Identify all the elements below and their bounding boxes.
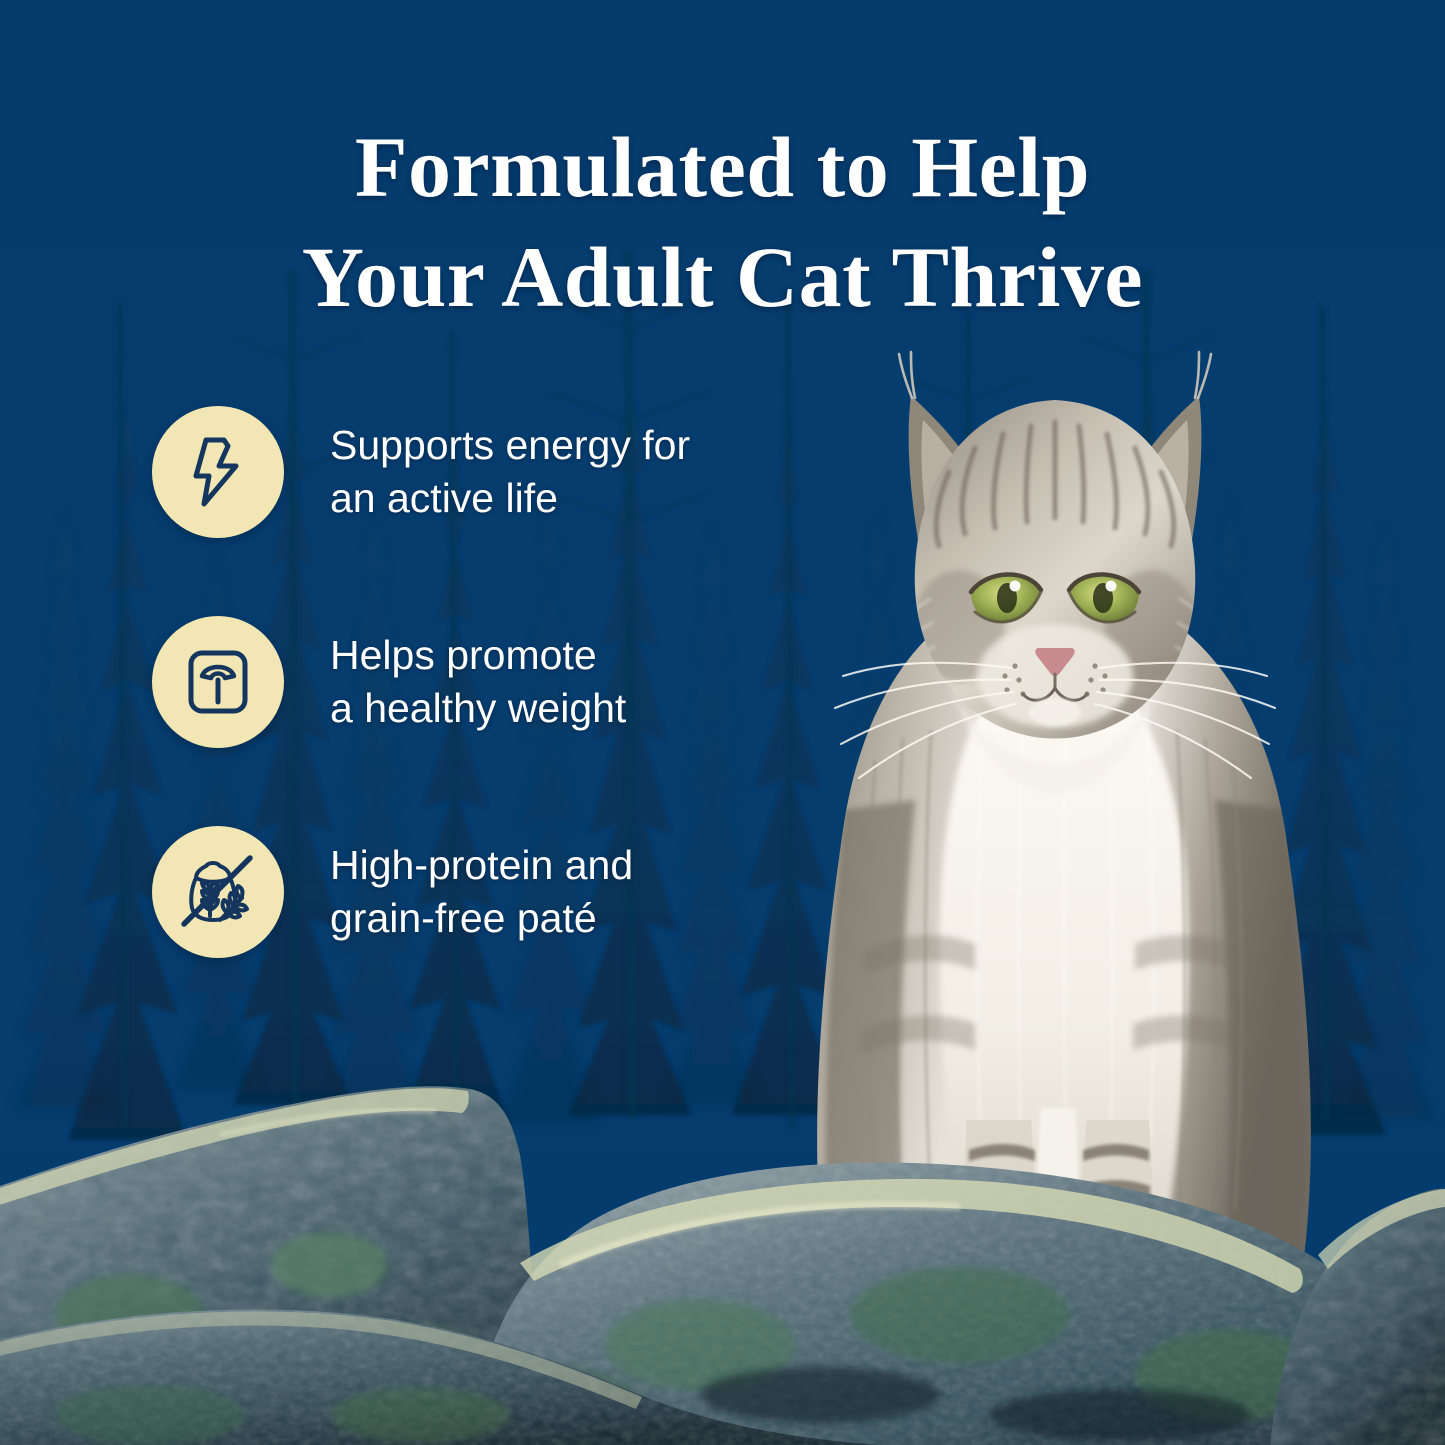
no-grain-icon — [176, 850, 260, 934]
promo-banner: Formulated to Help Your Adult Cat Thrive… — [0, 0, 1445, 1445]
feature-label-weight: Helps promote a healthy weight — [330, 629, 626, 736]
maine-coon-cat-photo — [735, 330, 1375, 1390]
feature-item-weight: Helps promote a healthy weight — [152, 608, 762, 756]
feature-label-grain-free: High-protein and grain-free paté — [330, 839, 633, 946]
feature-icon-badge — [152, 616, 284, 748]
feature-item-energy: Supports energy for an active life — [152, 398, 762, 546]
headline-line-1: Formulated to Help — [355, 119, 1090, 215]
rock-foreground — [0, 1015, 1445, 1445]
lightning-bolt-icon — [178, 432, 258, 512]
weight-scale-icon — [178, 642, 258, 722]
feature-icon-badge — [152, 406, 284, 538]
feature-label-energy: Supports energy for an active life — [330, 419, 690, 526]
feature-item-grain-free: High-protein and grain-free paté — [152, 818, 762, 966]
feature-list: Supports energy for an active life Helps… — [152, 398, 762, 966]
headline-line-2: Your Adult Cat Thrive — [0, 222, 1445, 332]
page-title: Formulated to Help Your Adult Cat Thrive — [0, 112, 1445, 332]
feature-icon-badge — [152, 826, 284, 958]
